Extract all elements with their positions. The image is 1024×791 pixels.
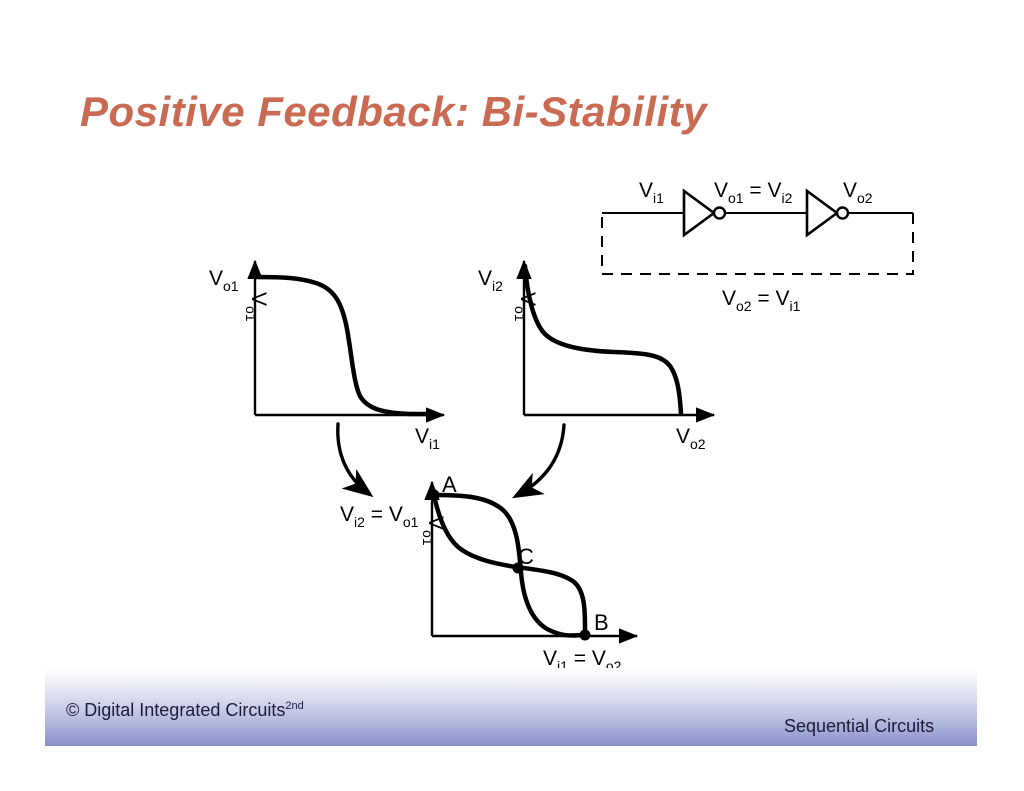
footer-chapter-title: Sequential Circuits [784, 716, 934, 737]
operating-point-b-dot [580, 630, 591, 641]
graph1-y-axis-label-rotated: Vo1 [243, 292, 270, 322]
inverter-1-bubble-icon [714, 208, 725, 219]
arrow-vtc1-to-combined [338, 424, 368, 493]
inverter-2-bubble-icon [837, 208, 848, 219]
graph1-x-axis-label: Vi1 [415, 425, 440, 452]
graph3-y-axis-label: Vi2 = Vo1 [340, 503, 419, 530]
graph2-x-axis-label: Vo2 [676, 425, 706, 452]
graph1-y-axis-label: Vo1 [209, 267, 239, 294]
circuit-mid-label: Vo1 = Vi2 [714, 179, 793, 206]
graph1-vtc-curve [255, 277, 436, 414]
graph2-y-axis-label: Vi2 [478, 267, 503, 294]
svg-text:Vo1: Vo1 [420, 516, 447, 546]
footer-copyright: © Digital Integrated Circuits2nd [66, 700, 304, 721]
svg-text:Vo1: Vo1 [243, 292, 270, 322]
circuit-input-label: Vi1 [639, 179, 664, 206]
slide-canvas: Positive Feedback: Bi-Stability [0, 0, 1024, 791]
footer-edition-superscript: 2nd [285, 700, 303, 712]
circuit-labels: Vi1 Vo1 = Vi2 Vo2 Vo2 = Vi1 [639, 179, 873, 314]
operating-point-a-label: A [442, 472, 457, 497]
operating-point-c-label: C [518, 544, 534, 569]
operating-point-b-label: B [594, 610, 609, 635]
graph-vtc-combined-bistable: A C B Vi2 = Vo1 Vo1 Vi1 = Vo2 [340, 472, 637, 674]
graph3-y-axis-label-rotated: Vo1 [420, 516, 447, 546]
footer-copyright-text: © Digital Integrated Circuits [66, 700, 285, 720]
graph-vtc-inverter-2: Vi2 Vo1 Vo2 [478, 261, 714, 452]
inverter-1-icon [684, 191, 714, 235]
circuit-output-label: Vo2 [843, 179, 873, 206]
inverter-2-icon [807, 191, 837, 235]
arrow-vtc2-to-combined [518, 425, 564, 495]
circuit-feedback-label: Vo2 = Vi1 [722, 287, 801, 314]
graph-vtc-inverter-1: Vo1 Vo1 Vi1 [209, 261, 444, 452]
feedback-loop-dashed [602, 213, 913, 274]
graph2-vtc-curve [525, 266, 681, 414]
operating-point-a-dot [429, 490, 440, 501]
